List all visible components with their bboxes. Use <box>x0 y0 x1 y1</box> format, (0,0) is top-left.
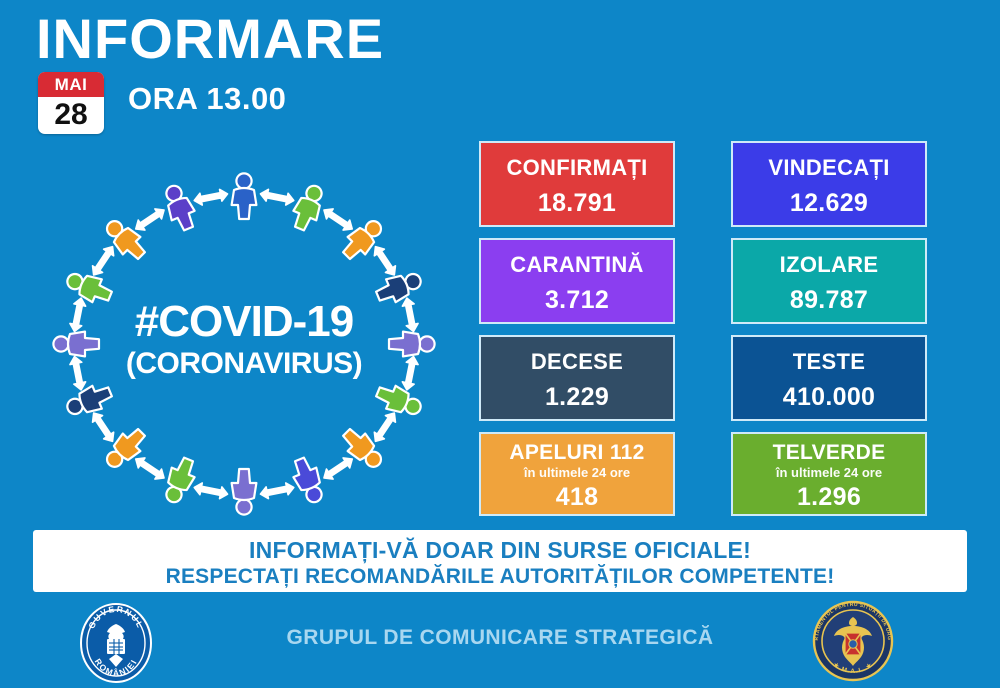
stat-label-decese: DECESE <box>481 349 673 375</box>
person-figure-icon <box>288 182 328 234</box>
double-arrow-icon <box>321 454 356 483</box>
double-arrow-icon <box>259 482 295 500</box>
stat-card-teste: TESTE410.000 <box>731 335 927 421</box>
stat-sublabel-apeluri112: în ultimele 24 ore <box>481 465 673 480</box>
stat-card-carantina: CARANTINĂ3.712 <box>479 238 675 324</box>
person-figure-icon <box>63 380 115 420</box>
stat-value-decese: 1.229 <box>481 382 673 412</box>
person-figure-icon <box>389 332 435 357</box>
official-sources-banner: INFORMAȚI-VĂ DOAR DIN SURSE OFICIALE! RE… <box>33 530 967 592</box>
person-figure-icon <box>53 332 99 357</box>
double-arrow-icon <box>89 410 118 445</box>
stat-label-confirmati: CONFIRMAȚI <box>481 155 673 181</box>
guvernul-romaniei-seal-icon: GUVERNUL ROMÂNIEI <box>78 602 154 684</box>
calendar-day-label: 28 <box>38 97 104 134</box>
double-arrow-icon <box>370 410 399 445</box>
dsu-mai-emblem-icon: DEPARTAMENTUL PENTRU SITUAȚII DE URGENȚĂ… <box>812 600 894 682</box>
calendar-month-label: MAI <box>38 72 104 97</box>
double-arrow-icon <box>370 243 399 278</box>
stat-card-telverde: TELVERDEîn ultimele 24 ore1.296 <box>731 432 927 516</box>
banner-line-2: RESPECTAȚI RECOMANDĂRILE AUTORITĂȚILOR C… <box>33 564 967 589</box>
person-figure-icon <box>63 267 115 307</box>
person-figure-icon <box>373 380 425 420</box>
stat-label-teste: TESTE <box>733 349 925 375</box>
double-arrow-icon <box>401 355 419 391</box>
person-figure-icon <box>160 182 200 234</box>
stat-value-apeluri112: 418 <box>481 482 673 512</box>
double-arrow-icon <box>69 355 87 391</box>
double-arrow-icon <box>132 205 167 234</box>
stat-label-apeluri112: APELURI 112 <box>481 441 673 465</box>
person-figure-icon <box>288 455 328 507</box>
page-title: INFORMARE <box>36 4 384 74</box>
double-arrow-icon <box>259 188 295 206</box>
stats-grid: CONFIRMAȚI18.791VINDECAȚI12.629CARANTINĂ… <box>479 141 927 516</box>
stat-card-izolare: IZOLARE89.787 <box>731 238 927 324</box>
stat-value-izolare: 89.787 <box>733 285 925 315</box>
calendar-icon: MAI 28 <box>38 72 104 134</box>
stat-label-vindecati: VINDECAȚI <box>733 155 925 181</box>
stat-value-carantina: 3.712 <box>481 285 673 315</box>
stat-label-carantina: CARANTINĂ <box>481 252 673 278</box>
stat-value-teste: 410.000 <box>733 382 925 412</box>
person-figure-icon <box>232 173 257 219</box>
stat-card-decese: DECESE1.229 <box>479 335 675 421</box>
double-arrow-icon <box>193 188 229 206</box>
stat-value-vindecati: 12.629 <box>733 188 925 218</box>
header-time: ORA 13.00 <box>128 81 286 117</box>
double-arrow-icon <box>321 205 356 234</box>
stat-label-izolare: IZOLARE <box>733 252 925 278</box>
stat-label-telverde: TELVERDE <box>733 441 925 465</box>
stat-value-confirmati: 18.791 <box>481 188 673 218</box>
banner-line-1: INFORMAȚI-VĂ DOAR DIN SURSE OFICIALE! <box>33 537 967 564</box>
double-arrow-icon <box>193 482 229 500</box>
person-figure-icon <box>373 267 425 307</box>
people-circle-icon <box>28 158 460 530</box>
stat-card-vindecati: VINDECAȚI12.629 <box>731 141 927 227</box>
stat-sublabel-telverde: în ultimele 24 ore <box>733 465 925 480</box>
stat-value-telverde: 1.296 <box>733 482 925 512</box>
double-arrow-icon <box>132 454 167 483</box>
double-arrow-icon <box>401 297 419 333</box>
stat-card-confirmati: CONFIRMAȚI18.791 <box>479 141 675 227</box>
person-figure-icon <box>232 469 257 515</box>
double-arrow-icon <box>69 297 87 333</box>
stat-card-apeluri112: APELURI 112în ultimele 24 ore418 <box>479 432 675 516</box>
double-arrow-icon <box>89 243 118 278</box>
person-figure-icon <box>160 455 200 507</box>
covid-people-circle-graphic: #COVID-19 (CORONAVIRUS) <box>28 158 460 530</box>
header: INFORMARE MAI 28 ORA 13.00 <box>0 0 1000 140</box>
